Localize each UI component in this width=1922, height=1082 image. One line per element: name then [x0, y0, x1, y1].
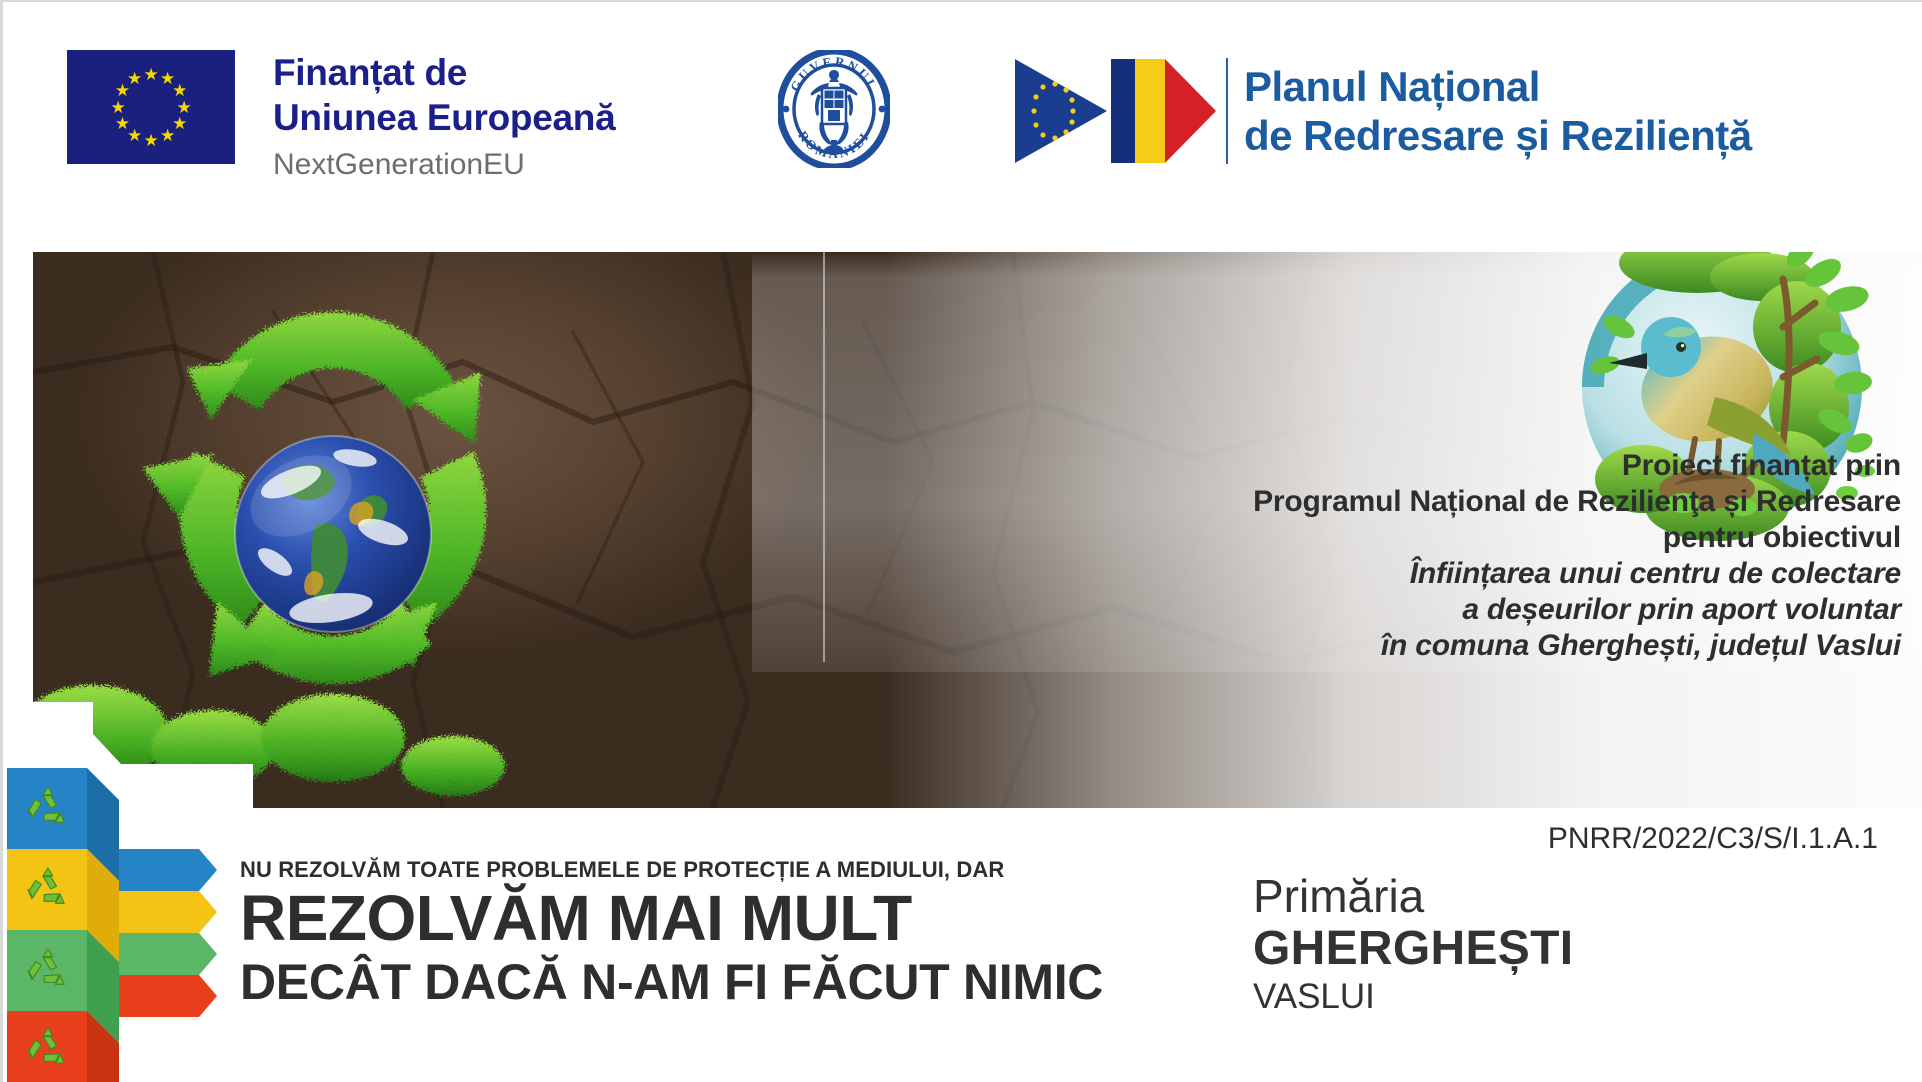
- project-line-2: Programul Național de Rezilienţa și Redr…: [1071, 484, 1901, 520]
- project-description: Proiect finanțat prin Programul Național…: [1071, 448, 1901, 664]
- slogan-headline: REZOLVĂM MAI MULT: [240, 883, 1060, 953]
- eu-flag-icon: ★★★★★★★★★★★★: [67, 50, 235, 164]
- eu-subtitle: NextGenerationEU: [273, 148, 615, 182]
- pnrr-divider: [1226, 58, 1228, 164]
- eu-logo-text: Finanțat de Uniunea Europeană NextGenera…: [273, 50, 615, 182]
- eu-star-3: ★: [172, 83, 187, 98]
- earth-globe-icon: [235, 436, 431, 632]
- eu-star-7: ★: [144, 133, 159, 148]
- pnrr-flags-arrow-icon: [1013, 57, 1218, 165]
- project-objective-line-1: Înființarea unui centru de colectare: [1071, 556, 1901, 592]
- slogan-kicker: NU REZOLVĂM TOATE PROBLEMELE DE PROTECȚI…: [240, 857, 1060, 883]
- authority-line-2: GHERGHEȘTI: [1253, 922, 1573, 976]
- project-line-3: pentru obiectivul: [1071, 520, 1901, 556]
- eu-stars-icon: ★★★★★★★★★★★★: [67, 50, 235, 164]
- project-line-1: Proiect finanțat prin: [1071, 448, 1901, 484]
- authority-block: Primăria GHERGHEȘTI VASLUI: [1253, 870, 1573, 1018]
- eu-star-10: ★: [111, 100, 126, 115]
- authority-line-3: VASLUI: [1253, 976, 1573, 1018]
- eu-funding-logo: ★★★★★★★★★★★★ Finanțat de Uniunea Europea…: [67, 50, 615, 182]
- eu-star-12: ★: [127, 71, 142, 86]
- project-objective-line-3: în comuna Gherghești, județul Vaslui: [1071, 628, 1901, 664]
- eu-line2: Uniunea Europeană: [273, 95, 615, 140]
- slogan-subhead: DECÂT DACĂ N-AM FI FĂCUT NIMIC: [240, 953, 1060, 1011]
- pnrr-line2: de Redresare și Reziliență: [1244, 111, 1752, 160]
- poster-root: ★★★★★★★★★★★★ Finanțat de Uniunea Europea…: [0, 0, 1922, 1082]
- guvernul-romaniei-seal-icon: GUVERNUL ROMÂNIEI: [778, 50, 890, 168]
- eu-line1: Finanțat de: [273, 50, 615, 95]
- project-objective-line-2: a deșeurilor prin aport voluntar: [1071, 592, 1901, 628]
- eu-star-9: ★: [115, 116, 130, 131]
- project-code: PNRR/2022/C3/S/I.1.A.1: [1548, 822, 1878, 856]
- photo-seam-line: [823, 252, 825, 662]
- pnrr-logo: Planul Național de Redresare și Rezilien…: [1013, 57, 1752, 165]
- eu-star-1: ★: [144, 67, 159, 82]
- eu-star-6: ★: [160, 128, 175, 143]
- eu-star-4: ★: [177, 100, 192, 115]
- pnrr-line1: Planul Național: [1244, 62, 1752, 111]
- pnrr-logo-text: Planul Național de Redresare și Rezilien…: [1244, 62, 1752, 160]
- logo-header: ★★★★★★★★★★★★ Finanțat de Uniunea Europea…: [3, 2, 1922, 234]
- slogan-block: NU REZOLVĂM TOATE PROBLEMELE DE PROTECȚI…: [240, 857, 1060, 1011]
- authority-line-1: Primăria: [1253, 870, 1573, 922]
